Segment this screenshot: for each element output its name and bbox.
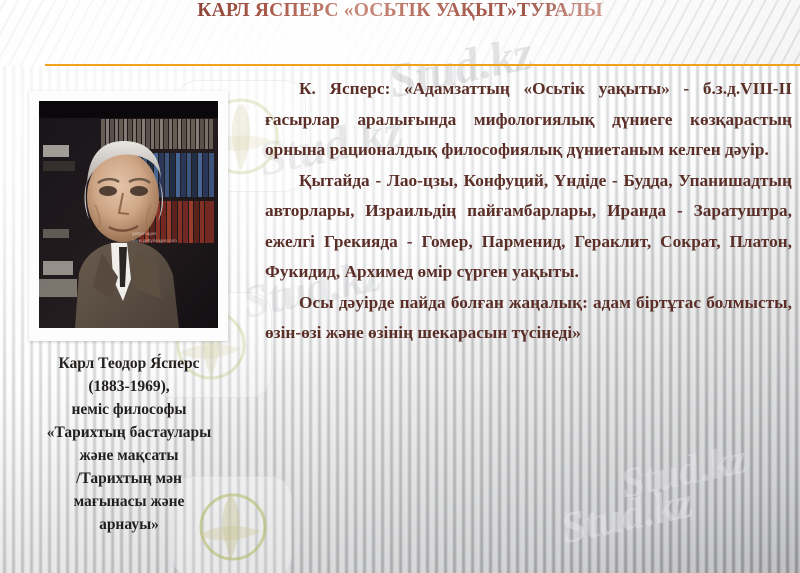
caption-line: «Тарихтың бастаулары [16,421,242,444]
caption-line: (1883-1969), [16,375,242,398]
body-paragraph: Осы дәуірде пайда болған жаңалық: адам б… [265,288,792,349]
getty-watermark-label: gettyimages [132,230,177,237]
caption-line: және мақсаты [16,444,242,467]
portrait-photo-frame: gettyimages www.gettyimages.com [29,91,228,341]
getty-watermark-url: www.gettyimages.com [132,237,177,244]
getty-watermark: gettyimages www.gettyimages.com [132,230,177,244]
caption-line: мағынасы және [16,490,242,513]
caption-line: неміс философы [16,398,242,421]
caption-line: арнауы» [16,513,242,536]
photo-caption: Карл Теодор Я́сперс (1883-1969), неміс ф… [16,352,242,536]
body-text-block: К. Ясперс: «Адамзаттың «Осьтік уақыты» -… [265,74,792,349]
slide-title: КАРЛ ЯСПЕРС «ОСЬТІК УАҚЫТ»ТУРАЛЫ [0,0,800,24]
body-paragraph: Қытайда - Лао-цзы, Конфуций, Үндіде - Бу… [265,166,792,288]
body-paragraph: К. Ясперс: «Адамзаттың «Осьтік уақыты» -… [265,74,792,166]
caption-line: /Тарихтың мән [16,467,242,490]
title-divider-rule [45,64,800,66]
slide-canvas: Stud.kz Stud.kz Stud.kz Stud.kz Stud.kz … [0,0,800,573]
caption-line: Карл Теодор Я́сперс [16,352,242,375]
portrait-photo: gettyimages www.gettyimages.com [39,101,218,328]
slide-title-text: КАРЛ ЯСПЕРС «ОСЬТІК УАҚЫТ»ТУРАЛЫ [197,0,602,22]
